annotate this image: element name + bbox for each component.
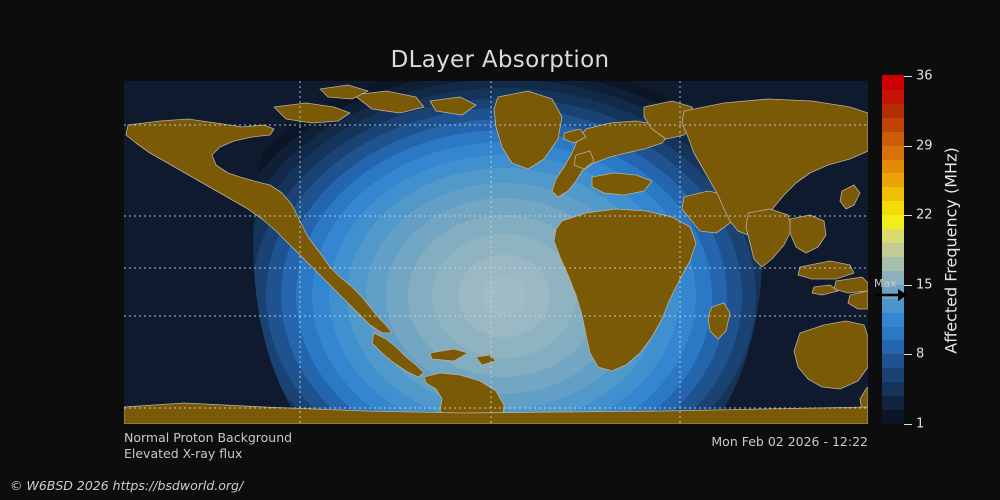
- colorbar[interactable]: 3629221581: [882, 76, 904, 424]
- world-map-svg: [124, 81, 868, 424]
- colorbar-band: [882, 145, 904, 160]
- colorbar-band: [882, 326, 904, 341]
- colorbar-tick-mark: [904, 285, 912, 286]
- page-title: DLayer Absorption: [0, 47, 1000, 73]
- colorbar-band: [882, 117, 904, 132]
- colorbar-band: [882, 284, 904, 299]
- colorbar-tick-label: 29: [916, 139, 933, 152]
- colorbar-band: [882, 103, 904, 118]
- colorbar-tick-mark: [904, 424, 912, 425]
- colorbar-tick-mark: [904, 146, 912, 147]
- colorbar-band: [882, 270, 904, 285]
- colorbar-band: [882, 131, 904, 146]
- colorbar-band: [882, 215, 904, 230]
- colorbar-band: [882, 409, 904, 424]
- colorbar-band: [882, 382, 904, 397]
- colorbar-band: [882, 396, 904, 411]
- colorbar-tick-label: 22: [916, 209, 933, 222]
- colorbar-tick-label: 15: [916, 278, 933, 291]
- colorbar-tick-mark: [904, 354, 912, 355]
- colorbar-band: [882, 201, 904, 216]
- colorbar-band: [882, 340, 904, 355]
- colorbar-tick-mark: [904, 215, 912, 216]
- colorbar-tick-label: 36: [916, 70, 933, 83]
- colorbar-axis-label-text: Affected Frequency (MHz): [942, 147, 961, 353]
- colorbar-band: [882, 89, 904, 104]
- colorbar-band: [882, 312, 904, 327]
- colorbar-band: [882, 173, 904, 188]
- copyright-notice: © W6BSD 2026 https://bsdworld.org/: [10, 478, 243, 493]
- timestamp: Mon Feb 02 2026 - 12:22: [0, 434, 868, 449]
- colorbar-axis-label: Affected Frequency (MHz): [938, 76, 964, 424]
- colorbar-band: [882, 256, 904, 271]
- colorbar-band: [882, 368, 904, 383]
- world-map-panel[interactable]: [124, 81, 868, 424]
- dlayer-absorption-app: DLayer Absorption: [0, 0, 1000, 500]
- colorbar-band: [882, 75, 904, 90]
- colorbar-band: [882, 187, 904, 202]
- colorbar-band: [882, 242, 904, 257]
- colorbar-tick-label: 8: [916, 348, 924, 361]
- colorbar-tick-mark: [904, 76, 912, 77]
- colorbar-gradient: [882, 76, 904, 424]
- colorbar-band: [882, 354, 904, 369]
- colorbar-tick-label: 1: [916, 418, 924, 431]
- colorbar-band: [882, 298, 904, 313]
- colorbar-band: [882, 159, 904, 174]
- colorbar-band: [882, 229, 904, 244]
